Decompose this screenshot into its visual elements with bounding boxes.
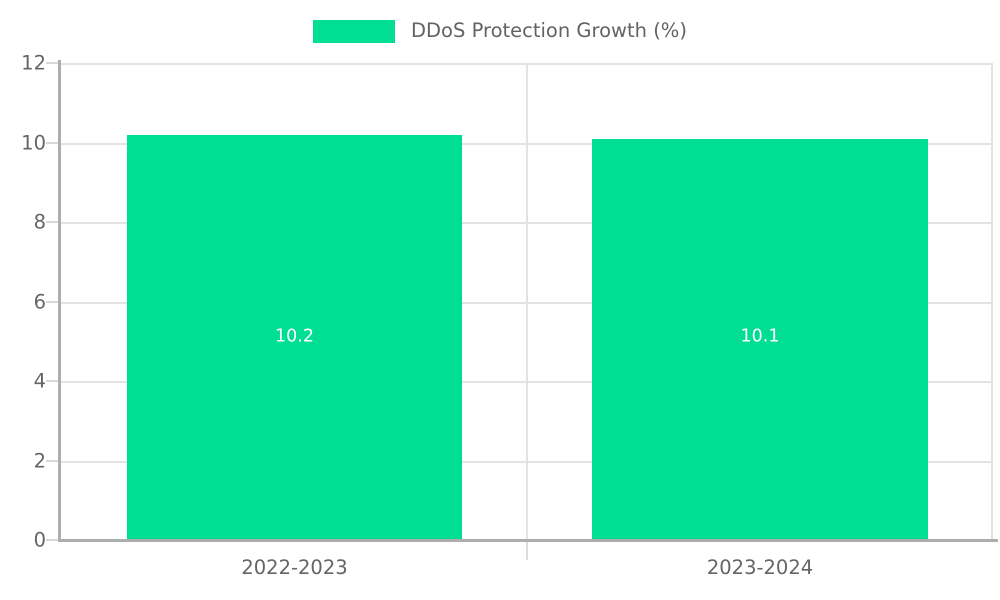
legend-item-label: DDoS Protection Growth (%) xyxy=(411,21,687,41)
legend-swatch-icon xyxy=(313,20,395,43)
y-tick-label-2: 2 xyxy=(2,451,46,471)
y-axis-tick-labels: 0 2 4 6 8 10 12 xyxy=(0,0,46,600)
y-tick-label-12: 12 xyxy=(2,53,46,73)
y-tick-label-0: 0 xyxy=(2,530,46,550)
bar-value-label-2023-2024: 10.1 xyxy=(741,328,780,346)
x-tick-label-2022-2023: 2022-2023 xyxy=(127,558,462,578)
y-tick-label-8: 8 xyxy=(2,212,46,232)
y-tick-label-10: 10 xyxy=(2,133,46,153)
x-axis-category-tick xyxy=(526,542,528,560)
gridline-category-divider xyxy=(526,63,528,540)
y-tick-label-4: 4 xyxy=(2,371,46,391)
bar-value-label-2022-2023: 10.2 xyxy=(275,328,314,346)
y-tick-label-6: 6 xyxy=(2,292,46,312)
gridline-right-border xyxy=(991,63,993,540)
plot-area xyxy=(60,63,993,540)
chart-legend: DDoS Protection Growth (%) xyxy=(0,14,1000,48)
bar-chart: DDoS Protection Growth (%) 0 2 4 6 8 10 … xyxy=(0,0,1000,600)
x-axis-spine xyxy=(58,539,998,542)
legend-item-ddos-protection-growth[interactable]: DDoS Protection Growth (%) xyxy=(313,20,687,43)
y-axis-spine xyxy=(58,60,61,542)
x-tick-label-2023-2024: 2023-2024 xyxy=(592,558,928,578)
